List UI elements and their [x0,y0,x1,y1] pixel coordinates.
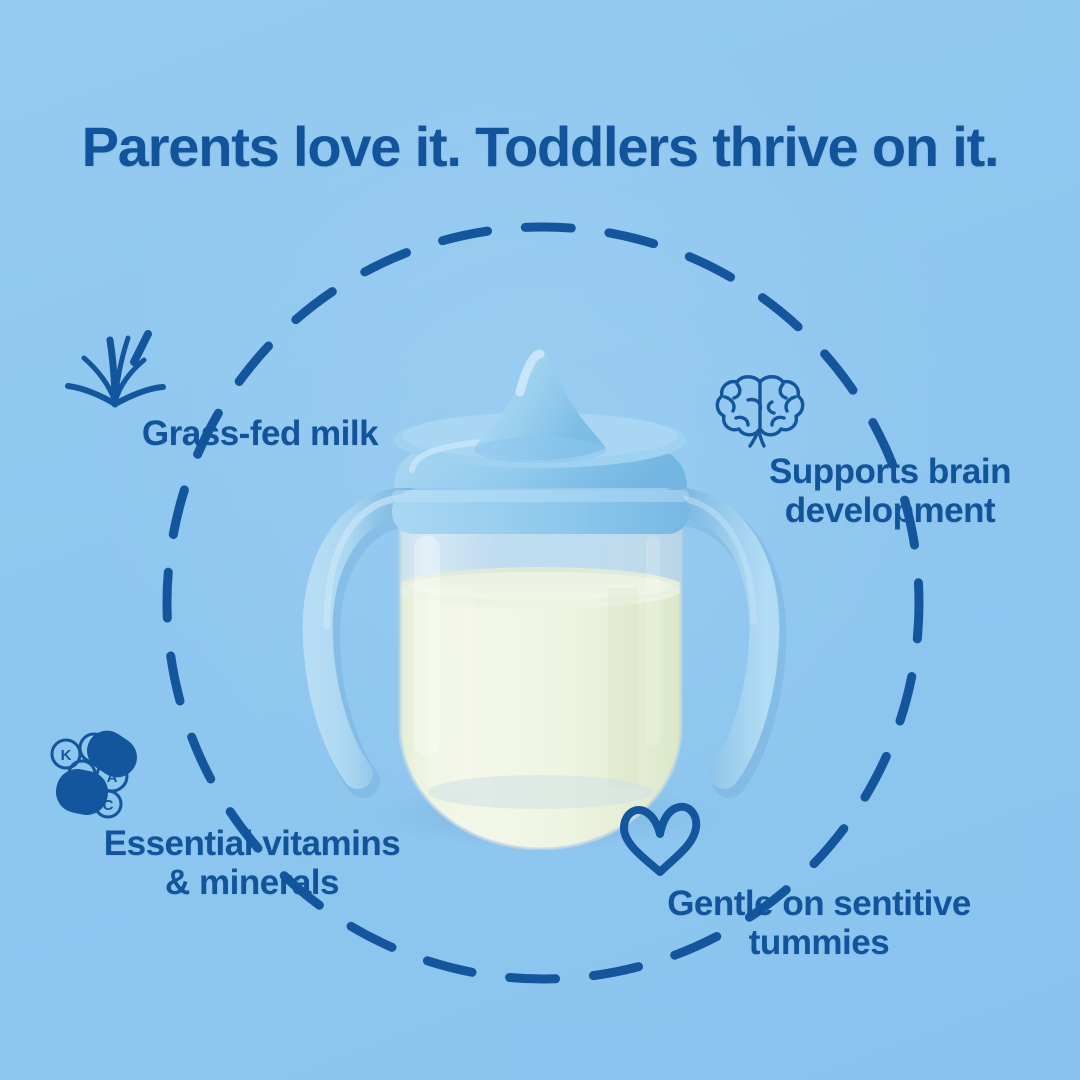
svg-text:K: K [61,747,72,764]
svg-text:C: C [103,797,114,814]
poster-canvas: Parents love it. Toddlers thrive on it. [0,0,1080,1080]
feature-label: Gentle on sentitive tummies [614,884,1024,962]
svg-text:A: A [107,769,118,786]
vitamin-pills-icon: K B D A C [42,728,462,820]
svg-text:D: D [77,767,88,784]
feature-label: Supports brain development [712,452,1068,530]
feature-essential-vitamins-minerals: K B D A C Essential vitamins & minerals [42,728,462,902]
cup-spout [474,350,606,463]
cup-collar-ring [392,490,689,534]
feature-supports-brain-development: Supports brain development [712,372,1068,530]
page-title: Parents love it. Toddlers thrive on it. [0,118,1080,177]
heart-icon [614,800,1024,880]
cup-handle-right [676,498,769,781]
grass-icon [60,330,460,410]
feature-label: Grass-fed milk [60,414,460,453]
feature-gentle-on-sensitive-tummies: Gentle on sentitive tummies [614,800,1024,962]
brain-icon [712,372,1068,448]
feature-grass-fed-milk: Grass-fed milk [60,330,460,453]
svg-text:B: B [89,741,100,758]
feature-label: Essential vitamins & minerals [42,824,462,902]
